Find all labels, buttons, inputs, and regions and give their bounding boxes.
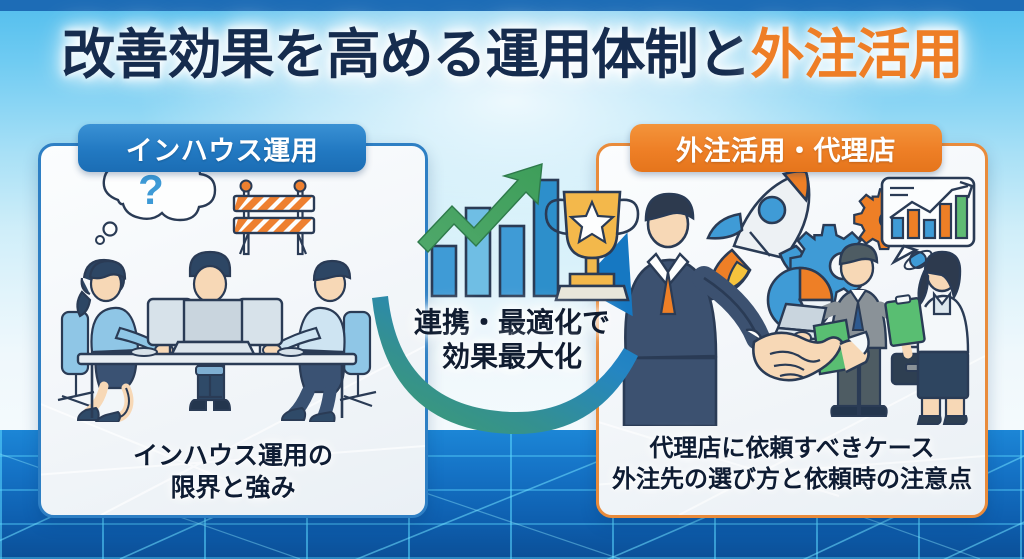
- agency-consultant-female: [885, 252, 968, 424]
- page-title-main: 改善効果を高める運用体制と: [62, 27, 751, 84]
- road-barrier-icon: [234, 181, 314, 255]
- laptop: [172, 300, 254, 354]
- infographic-canvas: 改善効果を高める運用体制と外注活用: [0, 0, 1024, 559]
- top-band: [0, 0, 1024, 11]
- badge-inhouse[interactable]: インハウス運用: [78, 124, 366, 172]
- svg-text:?: ?: [138, 166, 164, 213]
- caption-outsourcing: 代理店に依頼すべきケース 外注先の選び方と依頼時の注意点: [586, 434, 998, 495]
- synergy-caption: 連携・最適化で 効果最大化: [366, 306, 658, 374]
- caption-inhouse: インハウス運用の 限界と強み: [38, 440, 428, 504]
- badge-outsourcing[interactable]: 外注活用・代理店: [630, 124, 942, 172]
- analytics-panel-icon: [882, 178, 974, 262]
- page-title-accent: 外注活用: [751, 27, 963, 84]
- clipboard-icon: [885, 295, 925, 346]
- page-title: 改善効果を高める運用体制と外注活用: [0, 27, 1024, 84]
- badge-outsourcing-label: 外注活用・代理店: [676, 129, 896, 168]
- badge-inhouse-label: インハウス運用: [126, 129, 319, 168]
- synergy-curved-arrow: [356, 150, 668, 440]
